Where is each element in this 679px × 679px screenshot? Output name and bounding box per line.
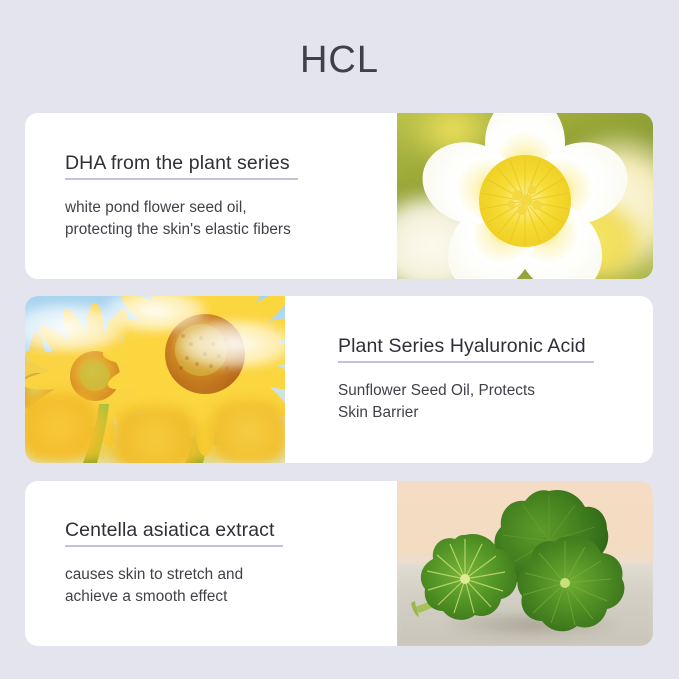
card-body: Sunflower Seed Oil, Protects Skin Barrie… xyxy=(338,380,631,423)
sunflower-field-photo xyxy=(25,296,285,463)
card-body-line: Sunflower Seed Oil, Protects xyxy=(338,380,631,402)
meadowfoam-flower-photo xyxy=(397,113,653,279)
centella-leaves-illustration xyxy=(397,481,653,646)
page-title: HCL xyxy=(0,39,679,82)
ingredient-card-hyaluronic-acid: Plant Series Hyaluronic Acid Sunflower S… xyxy=(25,296,653,463)
ingredient-card-dha: DHA from the plant series white pond flo… xyxy=(25,113,653,279)
blurred-sunflower xyxy=(98,406,212,463)
ingredient-card-centella: Centella asiatica extract causes skin to… xyxy=(25,481,653,646)
card-body: causes skin to stretch and achieve a smo… xyxy=(65,564,375,607)
card-heading: DHA from the plant series xyxy=(65,152,298,180)
card-body: white pond flower seed oil, protecting t… xyxy=(65,197,375,240)
card-text-block: Centella asiatica extract causes skin to… xyxy=(25,481,397,646)
product-ingredients-infographic: HCL DHA from the plant series white pond… xyxy=(0,0,679,679)
card-heading: Plant Series Hyaluronic Acid xyxy=(338,335,594,363)
card-body-line: causes skin to stretch and xyxy=(65,564,375,586)
card-body-line: Skin Barrier xyxy=(338,402,631,424)
card-body-line: protecting the skin's elastic fibers xyxy=(65,219,375,241)
card-text-block: DHA from the plant series white pond flo… xyxy=(25,113,397,279)
card-heading: Centella asiatica extract xyxy=(65,519,283,547)
cloud xyxy=(176,319,285,369)
card-body-line: achieve a smooth effect xyxy=(65,586,375,608)
card-body-line: white pond flower seed oil, xyxy=(65,197,375,219)
card-text-block: Plant Series Hyaluronic Acid Sunflower S… xyxy=(285,296,653,463)
flower-illustration xyxy=(415,113,635,279)
centella-leaves-photo xyxy=(397,481,653,646)
